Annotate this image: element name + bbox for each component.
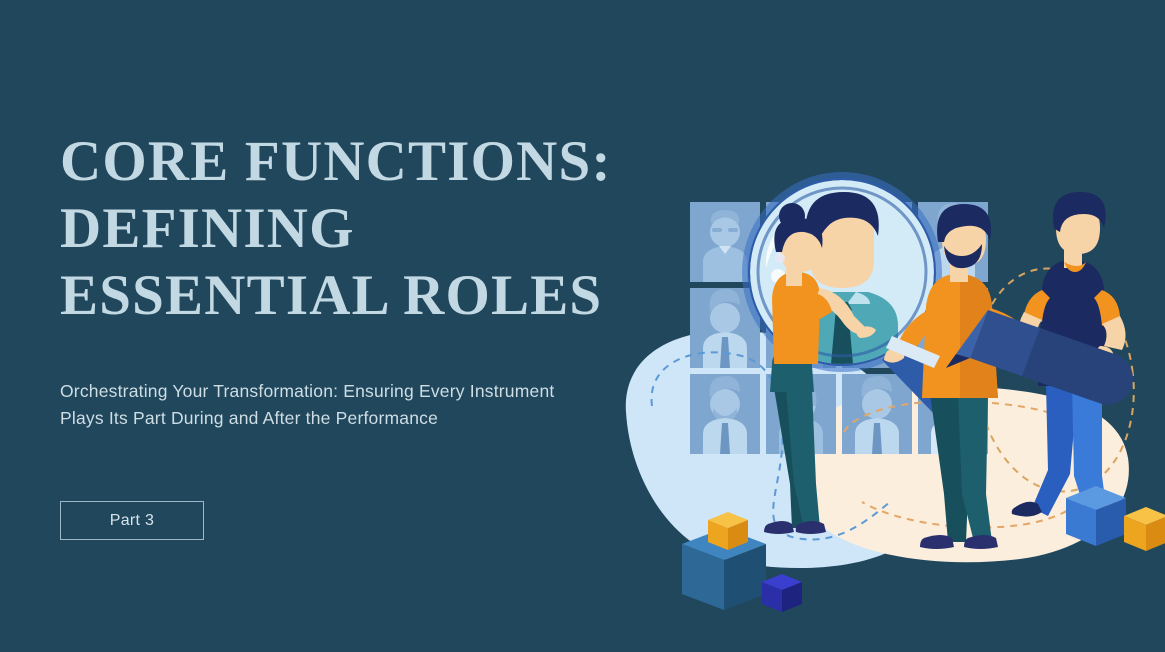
cube-group-right[interactable] (1066, 486, 1165, 551)
cube-small-darkblue (762, 574, 802, 612)
woman-hair-bun (779, 203, 805, 229)
illustration-svg (600, 150, 1165, 620)
slide-root: Core Functions: Defining Essential Roles… (0, 0, 1165, 652)
part-badge[interactable]: Part 3 (60, 501, 204, 540)
title-line-2: Defining (60, 195, 620, 262)
slide-subtitle: Orchestrating Your Transformation: Ensur… (60, 378, 600, 432)
cube-orange-right (1124, 507, 1165, 551)
profile-card[interactable] (842, 374, 912, 454)
team-roles-illustration (600, 150, 1165, 620)
cube-small-amber (708, 512, 748, 550)
page-title: Core Functions: Defining Essential Roles (60, 128, 620, 329)
title-line-3: Essential Roles (60, 262, 620, 329)
text-column: Core Functions: Defining Essential Roles… (60, 128, 620, 329)
cube-blue-right (1066, 486, 1126, 546)
title-line-1: Core Functions: (60, 128, 620, 195)
profile-card[interactable] (690, 374, 760, 454)
part-badge-label: Part 3 (110, 512, 155, 530)
